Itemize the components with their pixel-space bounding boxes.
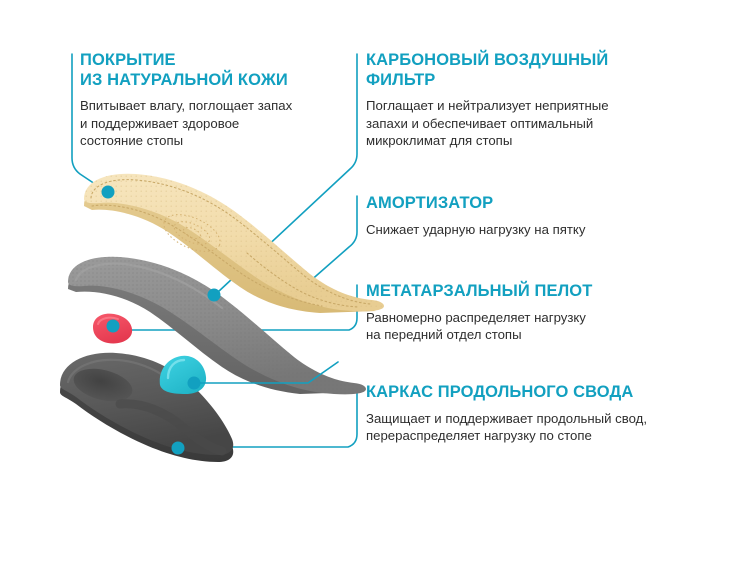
marker-leather	[102, 186, 115, 199]
callout-arch-heading: КАРКАС ПРОДОЛЬНОГО СВОДА	[366, 383, 686, 403]
callout-carbon-heading: КАРБОНОВЫЙ ВОЗДУШНЫЙ ФИЛЬТР	[366, 51, 666, 90]
arch-frame-layer	[60, 353, 233, 462]
callout-carbon: КАРБОНОВЫЙ ВОЗДУШНЫЙ ФИЛЬТР Поглащает и …	[366, 51, 666, 150]
marker-arch-frame	[172, 442, 185, 455]
arch-support-shape	[160, 356, 206, 394]
marker-metatarsal	[107, 320, 120, 333]
callout-metatarsal-body: Равномерно распределяет нагрузку на пере…	[366, 309, 666, 344]
callout-shock-absorber: АМОРТИЗАТОР Снижает ударную нагрузку на …	[366, 194, 666, 238]
callout-leather: ПОКРЫТИЕ ИЗ НАТУРАЛЬНОЙ КОЖИ Впитывает в…	[80, 51, 352, 150]
marker-arch-support	[188, 377, 201, 390]
callout-arch-frame: КАРКАС ПРОДОЛЬНОГО СВОДА Защищает и подд…	[366, 383, 686, 445]
callout-leather-heading: ПОКРЫТИЕ ИЗ НАТУРАЛЬНОЙ КОЖИ	[80, 51, 352, 90]
arch-support	[160, 356, 206, 394]
callout-leather-body: Впитывает влагу, поглощает запах и подде…	[80, 97, 352, 150]
infographic-page: ПОКРЫТИЕ ИЗ НАТУРАЛЬНОЙ КОЖИ Впитывает в…	[0, 0, 740, 588]
callout-shock-body: Снижает ударную нагрузку на пятку	[366, 221, 666, 239]
callout-carbon-body: Поглащает и нейтрализует неприятные запа…	[366, 97, 666, 150]
marker-carbon	[208, 289, 221, 302]
callout-arch-body: Защищает и поддерживает продольный свод,…	[366, 410, 686, 445]
callout-shock-heading: АМОРТИЗАТОР	[366, 194, 666, 214]
callout-metatarsal-heading: МЕТАТАРЗАЛЬНЫЙ ПЕЛОТ	[366, 282, 666, 302]
callout-metatarsal: МЕТАТАРЗАЛЬНЫЙ ПЕЛОТ Равномерно распреде…	[366, 282, 666, 344]
